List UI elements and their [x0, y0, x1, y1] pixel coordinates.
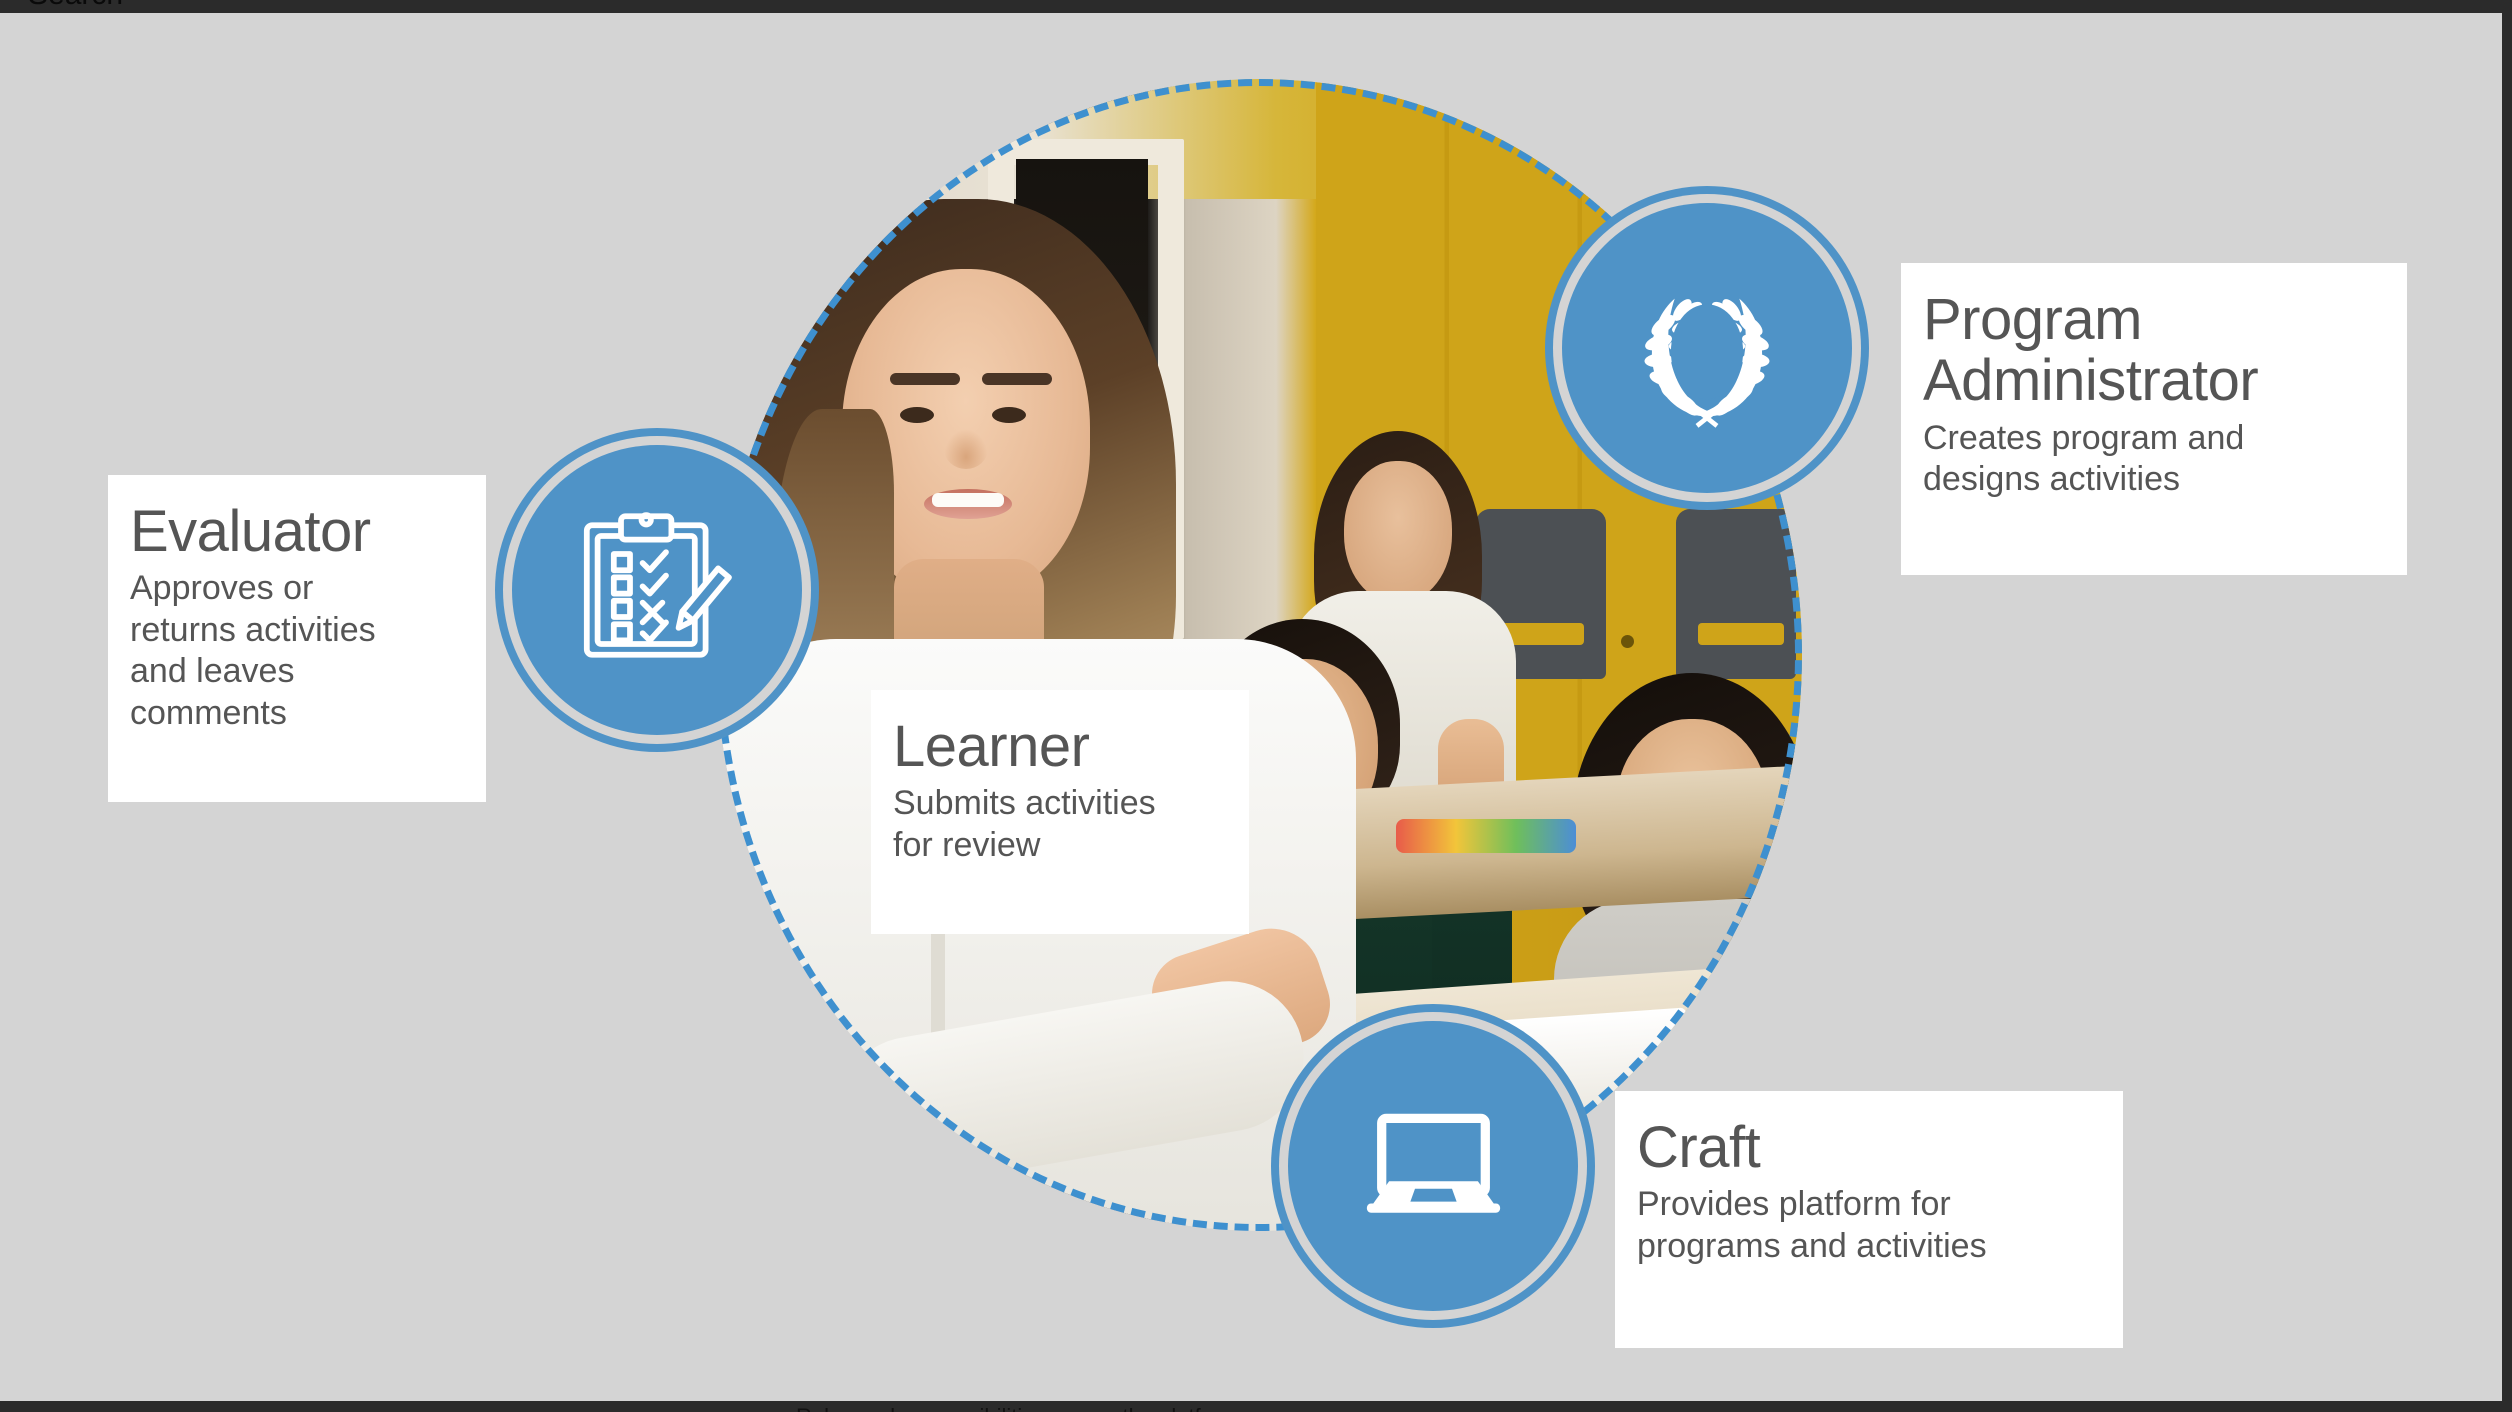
bottom-bar-caption: Roles and responsibilities across the pl…: [796, 1404, 1239, 1412]
photo-student-face: [1344, 461, 1452, 603]
card-learner[interactable]: Learner Submits activities for review: [871, 690, 1249, 934]
laptop-icon: [1288, 1021, 1578, 1311]
clipboard-checklist-icon: [512, 445, 802, 735]
card-evaluator[interactable]: Evaluator Approves or returns activities…: [108, 475, 486, 802]
badge-evaluator[interactable]: [512, 445, 802, 735]
card-description: Creates program and designs activities: [1923, 418, 2377, 501]
badge-craft[interactable]: [1288, 1021, 1578, 1311]
window-bottom-bar: Roles and responsibilities across the pl…: [0, 1401, 2512, 1412]
photo-chair: [1676, 509, 1796, 679]
photo-woman-teeth: [932, 493, 1004, 507]
card-craft[interactable]: Craft Provides platform for programs and…: [1615, 1091, 2123, 1348]
badge-program-administrator[interactable]: [1562, 203, 1852, 493]
photo-locker-dot: [1621, 635, 1634, 648]
card-description: Provides platform for programs and activ…: [1637, 1184, 2093, 1267]
laurel-wreath-icon: [1562, 203, 1852, 493]
window-top-bar: Search: [0, 0, 2512, 13]
card-title: Craft: [1637, 1117, 2093, 1178]
card-description: Submits activities for review: [893, 783, 1219, 866]
card-title: Learner: [893, 716, 1219, 777]
search-label[interactable]: Search: [28, 0, 123, 12]
photo-pencils: [1396, 819, 1576, 853]
window-right-edge: [2502, 0, 2512, 1412]
card-program-administrator[interactable]: Program Administrator Creates program an…: [1901, 263, 2407, 575]
slide-canvas: Evaluator Approves or returns activities…: [0, 13, 2502, 1401]
card-title: Program Administrator: [1923, 289, 2377, 412]
photo-woman-nose: [944, 429, 988, 469]
card-title: Evaluator: [130, 501, 456, 562]
card-description: Approves or returns activities and leave…: [130, 568, 456, 734]
app-window: Search: [0, 0, 2512, 1412]
